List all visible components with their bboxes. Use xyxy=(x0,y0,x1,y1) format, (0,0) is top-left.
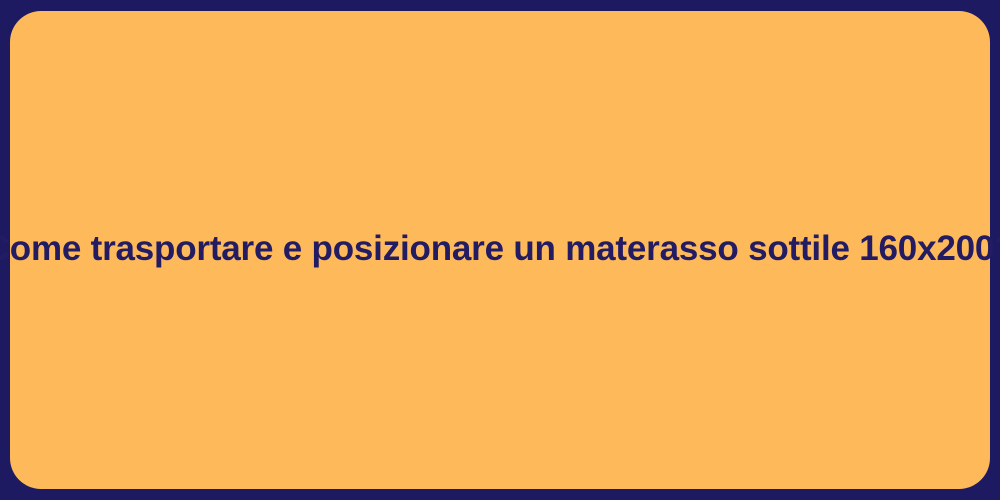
card-panel: Come trasportare e posizionare un matera… xyxy=(10,11,990,489)
card-frame: Come trasportare e posizionare un matera… xyxy=(0,0,1000,500)
page-title: Come trasportare e posizionare un matera… xyxy=(0,227,1000,271)
